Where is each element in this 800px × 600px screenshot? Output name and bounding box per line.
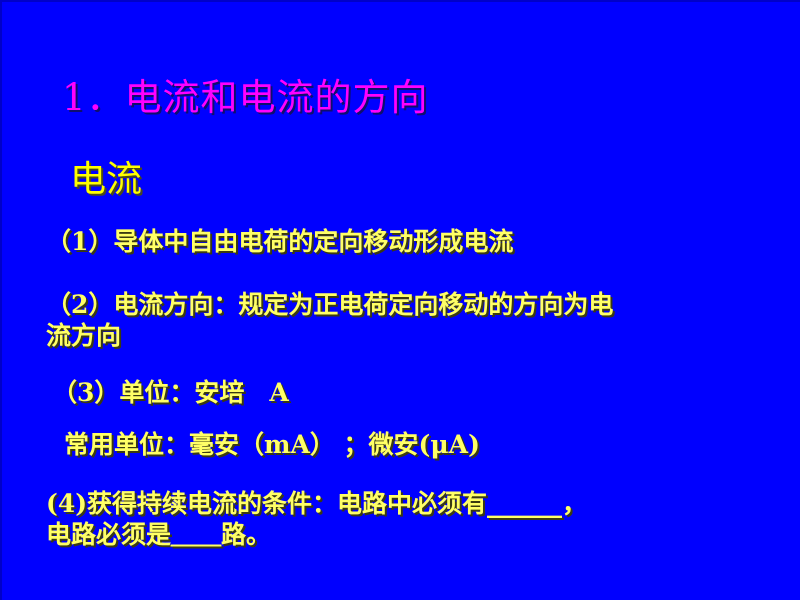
body-item-3: （3）单位：安培 A	[52, 378, 752, 409]
section-heading: 电流	[70, 160, 142, 200]
body-item-2-line-2: 流方向	[46, 321, 776, 352]
slide-canvas: 1．电流和电流的方向 电流 （1）导体中自由电荷的定向移动形成电流 （2）电流方…	[0, 0, 800, 600]
body-item-5-line-2: 电路必须是＿＿路。	[46, 520, 786, 551]
body-item-2: （2）电流方向：规定为正电荷定向移动的方向为电 流方向	[46, 290, 776, 351]
body-item-2-line-1: （2）电流方向：规定为正电荷定向移动的方向为电	[46, 290, 776, 321]
body-item-4: 常用单位：毫安（mA） ；微安(μA)	[64, 430, 764, 461]
body-item-5: (4)获得持续电流的条件：电路中必须有______， 电路必须是＿＿路。	[46, 489, 786, 550]
body-item-5-line-1: (4)获得持续电流的条件：电路中必须有______，	[46, 489, 786, 520]
body-item-1: （1）导体中自由电荷的定向移动形成电流	[46, 227, 766, 258]
page-title: 1．电流和电流的方向	[62, 78, 429, 119]
